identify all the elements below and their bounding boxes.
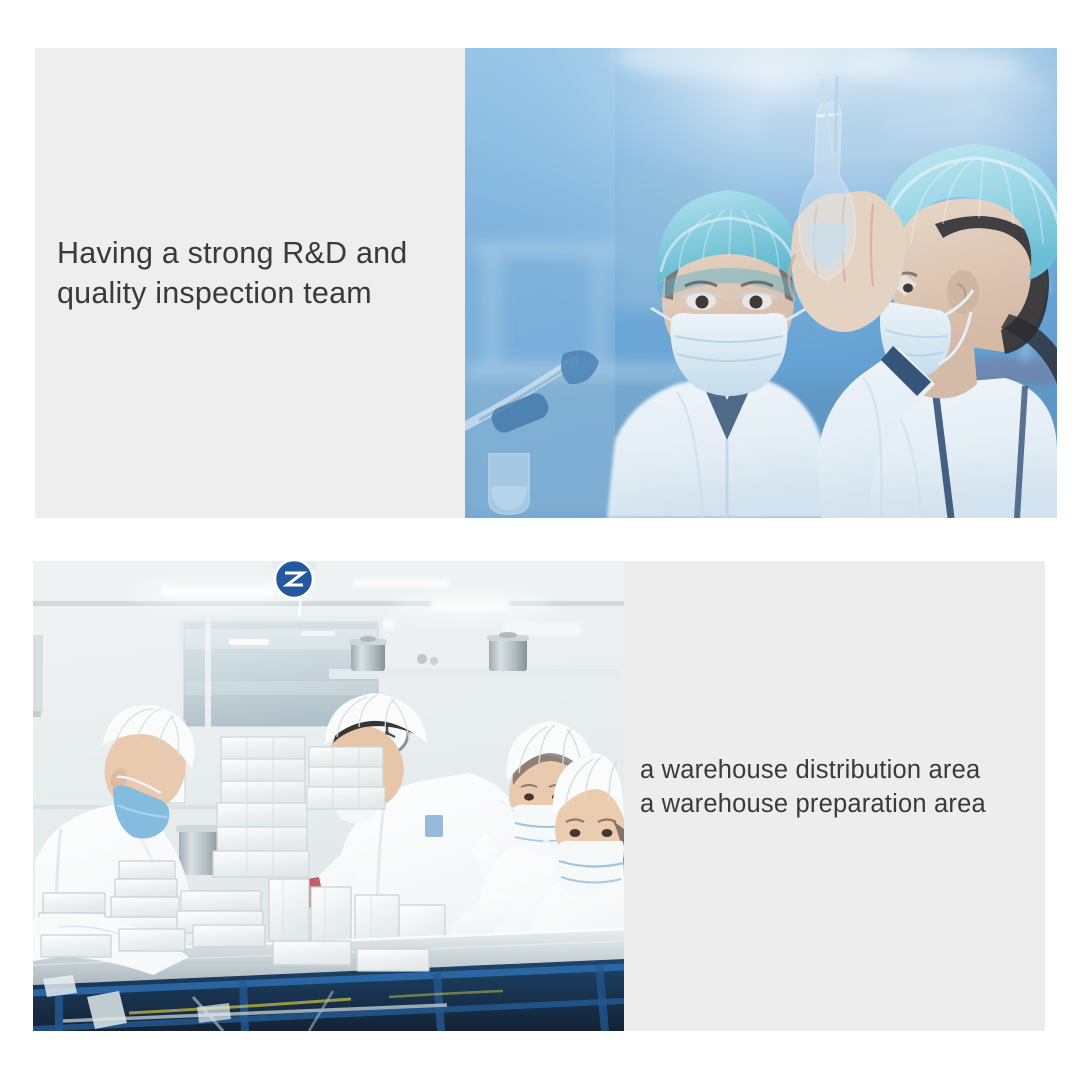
bottom-section: a warehouse distribution area a warehous… (33, 561, 1045, 1031)
top-caption-line-1: Having a strong R&D and (57, 234, 457, 274)
warehouse-packing-photo (33, 561, 624, 1031)
top-section: Having a strong R&D and quality inspecti… (35, 48, 1057, 518)
bottom-caption-line-1: a warehouse distribution area (640, 754, 1060, 788)
bottom-caption-line-2: a warehouse preparation area (640, 788, 1060, 822)
top-caption-line-2: quality inspection team (57, 274, 457, 314)
poster-canvas: Having a strong R&D and quality inspecti… (0, 0, 1080, 1080)
warehouse-packing-illustration (33, 561, 624, 1031)
top-caption: Having a strong R&D and quality inspecti… (57, 234, 457, 313)
lab-inspection-illustration (465, 48, 1057, 518)
lab-inspection-photo (465, 48, 1057, 518)
bottom-caption: a warehouse distribution area a warehous… (640, 754, 1060, 822)
